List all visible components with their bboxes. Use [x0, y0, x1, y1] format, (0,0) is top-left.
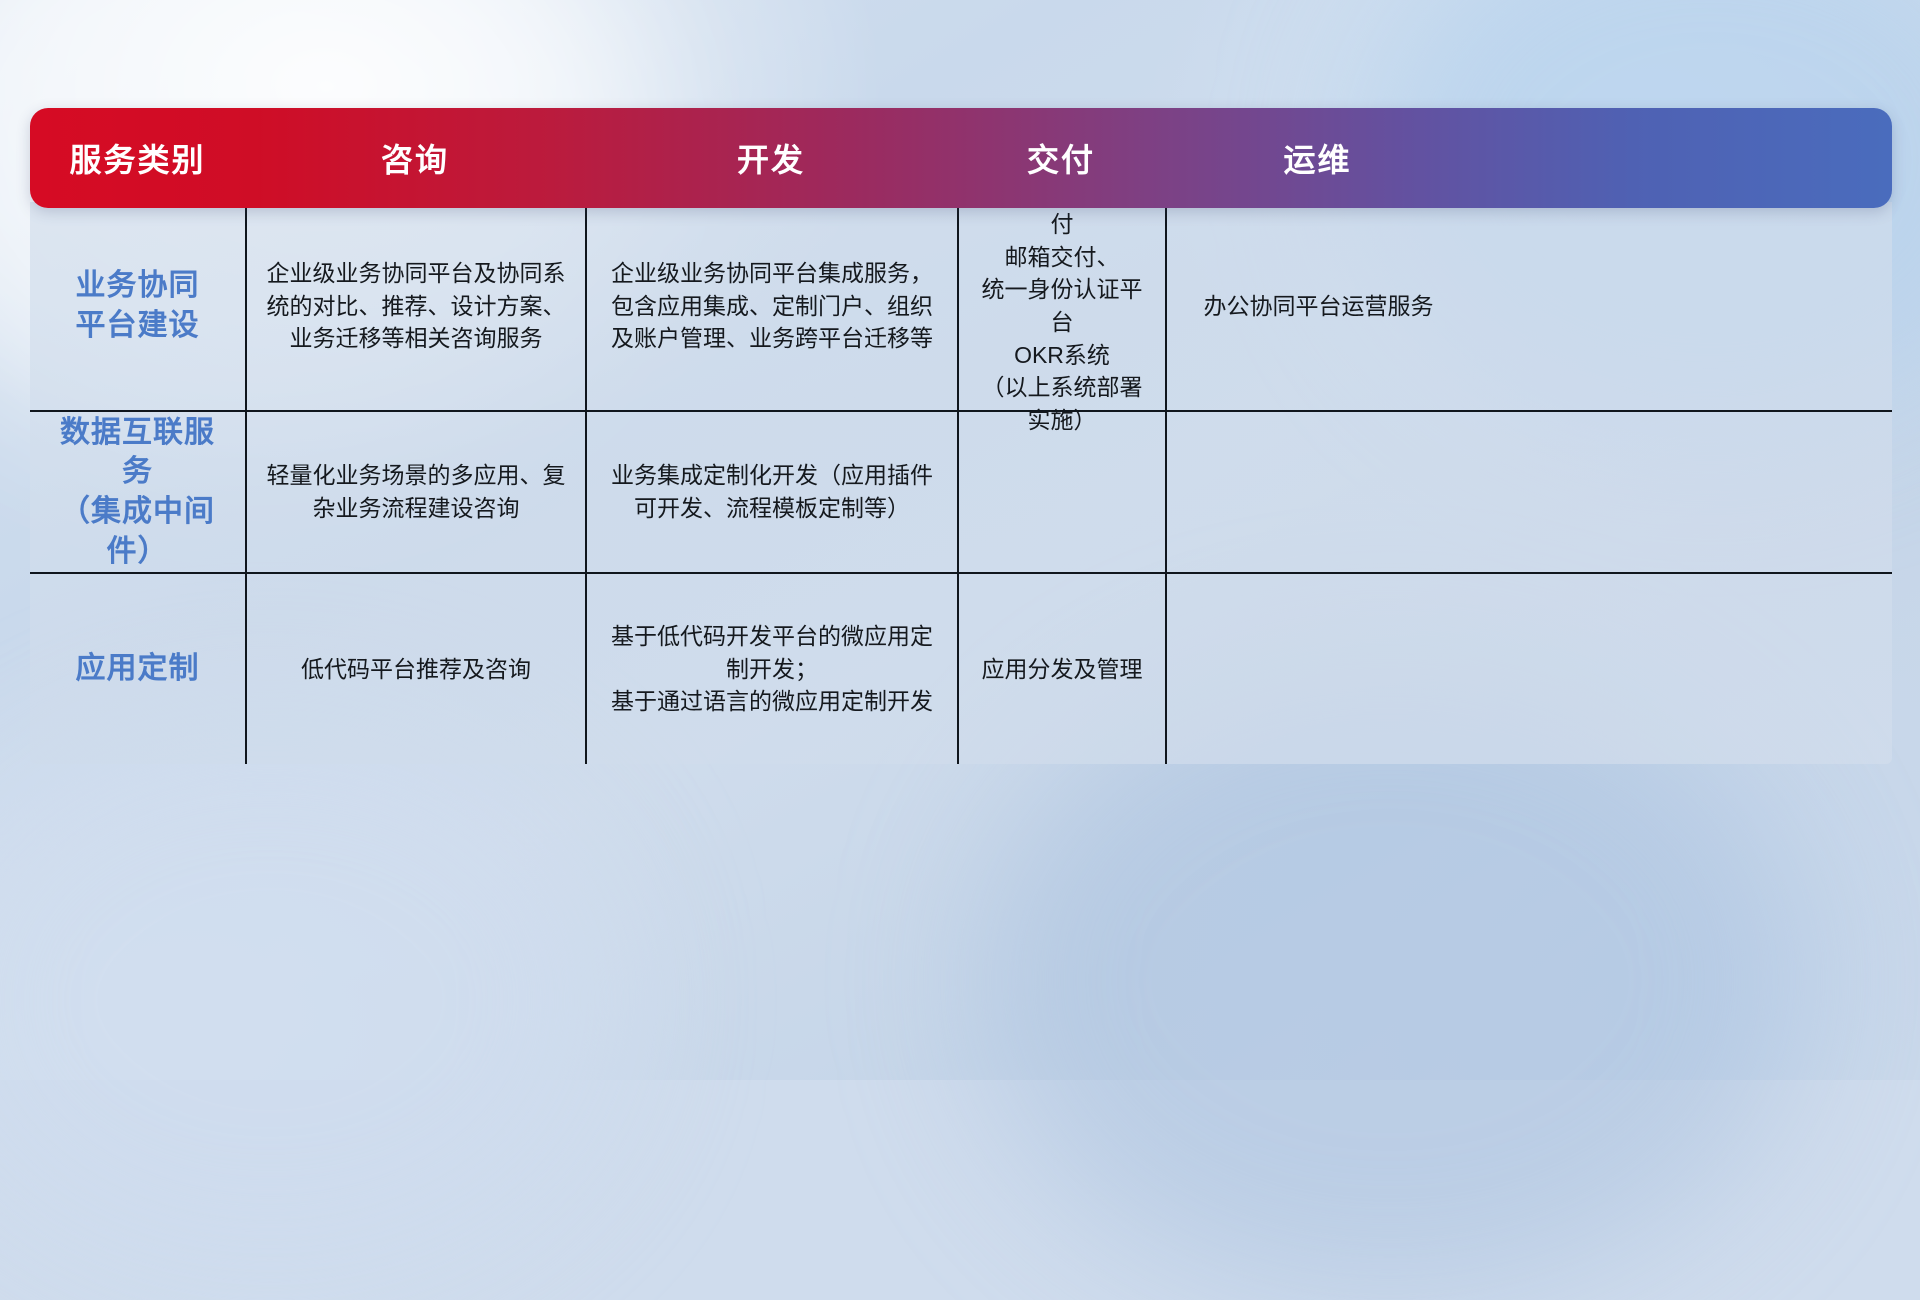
text-line: 统一身份认证平台	[977, 273, 1147, 338]
cell-delivery: 应用分发及管理	[957, 574, 1165, 764]
cell-development: 基于低代码开发平台的微应用定制开发；基于通过语言的微应用定制开发	[585, 574, 957, 764]
cell-operations	[1165, 412, 1470, 572]
service-matrix-table: 服务类别 咨询 开发 交付 运维 业务协同平台建设 企业级业务协同平台及协同系统…	[30, 108, 1892, 764]
cell-development: 企业级业务协同平台集成服务，包含应用集成、定制门户、组织及账户管理、业务跨平台迁…	[585, 202, 957, 410]
text-line: 业务协同	[48, 266, 227, 306]
column-header-operations: 运维	[1165, 135, 1470, 181]
text-line: （集成中间件）	[48, 492, 227, 571]
row-category-label: 数据互联服务（集成中间件）	[30, 412, 245, 572]
text-line: 基于低代码开发平台的微应用定	[605, 620, 939, 653]
text-line: 及账户管理、业务跨平台迁移等	[605, 322, 939, 355]
cell-consulting: 轻量化业务场景的多应用、复杂业务流程建设咨询	[245, 412, 585, 572]
cell-delivery: 项目管理平台交付邮箱交付、统一身份认证平台OKR系统（以上系统部署实施）	[957, 202, 1165, 410]
text-line: 轻量化业务场景的多应用、复	[265, 459, 567, 492]
text-line: 低代码平台推荐及咨询	[265, 653, 567, 686]
text-line: 应用定制	[48, 649, 227, 689]
text-line: 办公协同平台运营服务	[1185, 290, 1452, 323]
table-row: 应用定制 低代码平台推荐及咨询 基于低代码开发平台的微应用定制开发；基于通过语言…	[30, 572, 1892, 764]
cell-operations: 办公协同平台运营服务	[1165, 202, 1470, 410]
row-category-label: 业务协同平台建设	[30, 202, 245, 410]
column-header-delivery: 交付	[957, 135, 1165, 181]
text-line: 企业级业务协同平台及协同系	[265, 257, 567, 290]
text-line: 杂业务流程建设咨询	[265, 492, 567, 525]
row-category-label: 应用定制	[30, 574, 245, 764]
text-line: 基于通过语言的微应用定制开发	[605, 685, 939, 718]
text-line: OKR系统	[977, 339, 1147, 372]
text-line: 数据互联服务	[48, 413, 227, 492]
text-line: 制开发；	[605, 653, 939, 686]
cell-consulting: 低代码平台推荐及咨询	[245, 574, 585, 764]
text-line: 可开发、流程模板定制等）	[605, 492, 939, 525]
cell-consulting: 企业级业务协同平台及协同系统的对比、推荐、设计方案、业务迁移等相关咨询服务	[245, 202, 585, 410]
text-line: 包含应用集成、定制门户、组织	[605, 290, 939, 323]
column-header-development: 开发	[585, 135, 957, 181]
text-line: 应用分发及管理	[977, 653, 1147, 686]
background-blob-bottom-left	[0, 720, 620, 1280]
column-header-consulting: 咨询	[245, 135, 585, 181]
column-header-service-category: 服务类别	[30, 135, 245, 181]
table-header-row: 服务类别 咨询 开发 交付 运维	[30, 108, 1892, 208]
slide-canvas: 服务类别 咨询 开发 交付 运维 业务协同平台建设 企业级业务协同平台及协同系统…	[0, 0, 1920, 1080]
text-line: 业务迁移等相关咨询服务	[265, 322, 567, 355]
text-line: 平台建设	[48, 306, 227, 346]
table-row: 数据互联服务（集成中间件） 轻量化业务场景的多应用、复杂业务流程建设咨询 业务集…	[30, 410, 1892, 572]
text-line: 统的对比、推荐、设计方案、	[265, 290, 567, 323]
cell-operations	[1165, 574, 1470, 764]
table-body: 业务协同平台建设 企业级业务协同平台及协同系统的对比、推荐、设计方案、业务迁移等…	[30, 202, 1892, 764]
cell-development: 业务集成定制化开发（应用插件可开发、流程模板定制等）	[585, 412, 957, 572]
cell-delivery	[957, 412, 1165, 572]
text-line: 企业级业务协同平台集成服务，	[605, 257, 939, 290]
text-line: 业务集成定制化开发（应用插件	[605, 459, 939, 492]
table-row: 业务协同平台建设 企业级业务协同平台及协同系统的对比、推荐、设计方案、业务迁移等…	[30, 202, 1892, 410]
text-line: 邮箱交付、	[977, 241, 1147, 274]
